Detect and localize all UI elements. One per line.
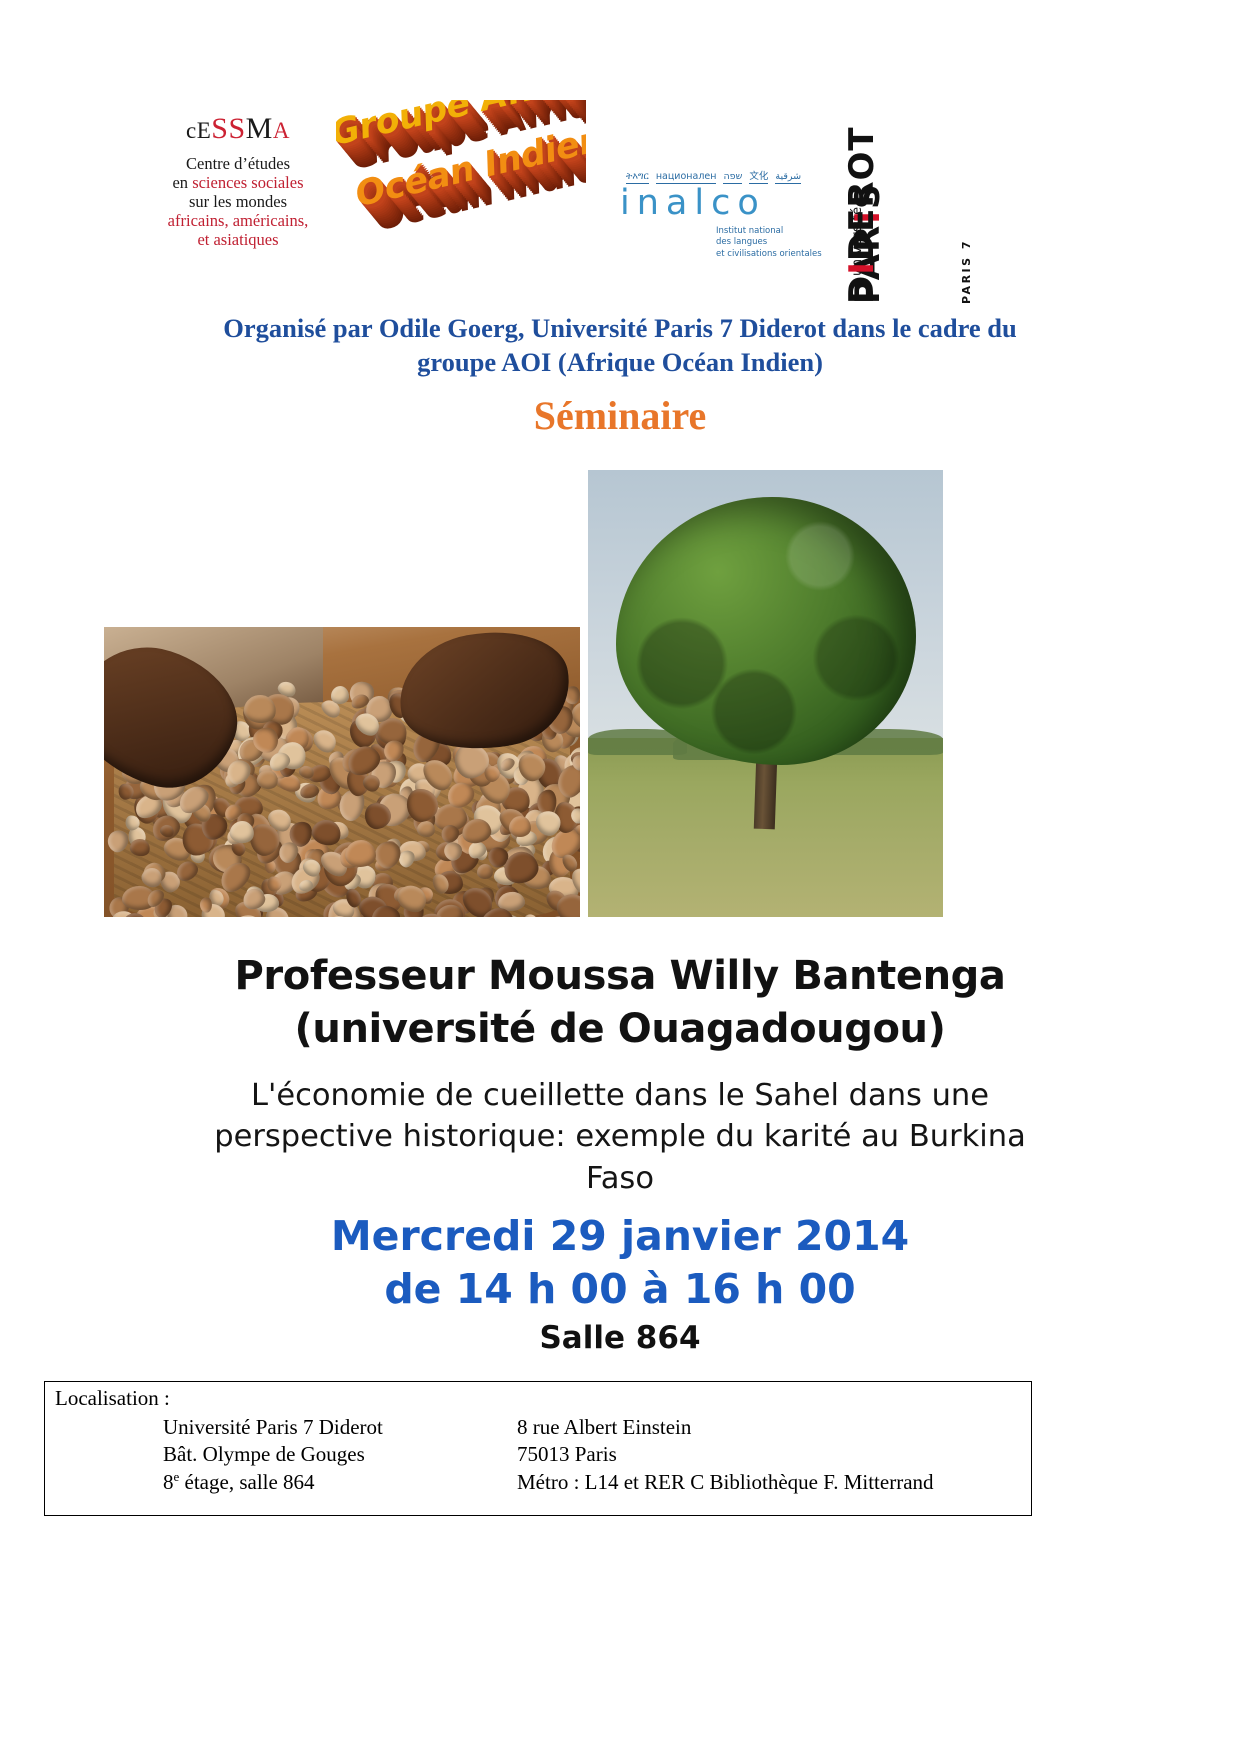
diderot-rest: DEROT — [842, 126, 882, 261]
location-right-line-1: 8 rue Albert Einstein — [517, 1414, 934, 1441]
talk-title: L'économie de cueillette dans le Sahel d… — [118, 1075, 1122, 1199]
schedule-datetime: Mercredi 29 janvier 2014 de 14 h 00 à 16… — [0, 1210, 1240, 1317]
schedule-time: de 14 h 00 à 16 h 00 — [0, 1263, 1240, 1316]
groupe-afrique-ocean-indien-logo: Groupe Afrique Océan Indien — [336, 100, 586, 290]
diderot-paris7-label: PARIS 7 — [960, 239, 973, 304]
logo-bar: cESSMA Centre d’études en sciences socia… — [0, 96, 1240, 316]
location-floor-ordinal: e — [174, 1469, 180, 1484]
speaker-name: Professeur Moussa Willy Bantenga (univer… — [0, 950, 1240, 1056]
inalco-script-row: ትእግር национален שפה 文化 شرقية — [620, 162, 835, 184]
speaker-name-line-2: (université de Ouagadougou) — [0, 1003, 1240, 1056]
inalco-subtitle: Institut national des langues et civilis… — [716, 226, 835, 260]
cessma-logo: cESSMA Centre d’études en sciences socia… — [118, 112, 358, 249]
location-column-left: Université Paris 7 Diderot Bât. Olympe d… — [163, 1414, 383, 1496]
diderot-d: D — [842, 275, 882, 304]
location-right-line-2: 75013 Paris — [517, 1441, 934, 1468]
cessma-line-2-red: sciences sociales — [192, 173, 303, 192]
talk-title-line-1: L'économie de cueillette dans le Sahel d… — [118, 1075, 1122, 1116]
inalco-subtitle-line-1: Institut national — [716, 226, 835, 237]
shea-nut — [104, 826, 132, 855]
organiser-line-1: Organisé par Odile Goerg, Université Par… — [100, 312, 1140, 346]
inalco-subtitle-line-3: et civilisations orientales — [716, 249, 835, 260]
shea-nut — [508, 816, 531, 838]
location-title: Localisation : — [55, 1386, 170, 1411]
shea-nut — [345, 840, 376, 868]
organiser-heading: Organisé par Odile Goerg, Université Par… — [100, 312, 1140, 380]
shea-nut — [476, 863, 493, 878]
diderot-diderot-word: DIDEROT — [842, 126, 882, 304]
gaoi-3d-text: Groupe Afrique Océan Indien — [336, 100, 586, 215]
diderot-red-i: I — [842, 261, 882, 275]
location-left-line-3: 8e étage, salle 864 — [163, 1469, 383, 1496]
cessma-line-2: en sciences sociales — [118, 173, 358, 192]
location-box: Localisation : Université Paris 7 Didero… — [44, 1381, 1032, 1516]
location-left-line-2: Bât. Olympe de Gouges — [163, 1441, 383, 1468]
seminaire-title: Séminaire — [0, 392, 1240, 439]
paris-diderot-logo: université PARIS DIDEROT PARIS 7 — [840, 96, 960, 308]
speaker-name-line-1: Professeur Moussa Willy Bantenga — [0, 950, 1240, 1003]
organiser-line-2: groupe AOI (Afrique Océan Indien) — [100, 346, 1140, 380]
location-floor-rest: étage, salle 864 — [185, 1470, 315, 1494]
location-left-line-1: Université Paris 7 Diderot — [163, 1414, 383, 1441]
inalco-script-arabic: شرقية — [775, 172, 801, 184]
location-right-line-3: Métro : L14 et RER C Bibliothèque F. Mit… — [517, 1469, 934, 1496]
location-floor-number: 8 — [163, 1470, 174, 1494]
cessma-line-1: Centre d’études — [118, 154, 358, 173]
shea-nut — [200, 897, 212, 913]
cessma-line-4: africains, américains, — [118, 211, 358, 230]
shea-nut — [129, 838, 151, 858]
inalco-logo: ትእግር национален שפה 文化 شرقية inalco Inst… — [620, 162, 835, 260]
karite-tree-photo — [588, 470, 943, 917]
inalco-wordmark: inalco — [620, 185, 835, 222]
schedule-date: Mercredi 29 janvier 2014 — [0, 1210, 1240, 1263]
cessma-line-5: et asiatiques — [118, 230, 358, 249]
location-column-right: 8 rue Albert Einstein 75013 Paris Métro … — [517, 1414, 934, 1496]
shea-nuts-photo — [104, 627, 580, 917]
shea-nut — [331, 686, 350, 704]
shea-nut — [289, 916, 319, 917]
inalco-subtitle-line-2: des langues — [716, 237, 835, 248]
cessma-line-2-black: en — [172, 173, 192, 192]
talk-title-line-3: Faso — [118, 1158, 1122, 1199]
cessma-acronym: cESSMA — [118, 112, 358, 147]
cessma-line-3: sur les mondes — [118, 192, 358, 211]
schedule-room: Salle 864 — [0, 1320, 1240, 1356]
talk-title-line-2: perspective historique: exemple du karit… — [118, 1116, 1122, 1157]
